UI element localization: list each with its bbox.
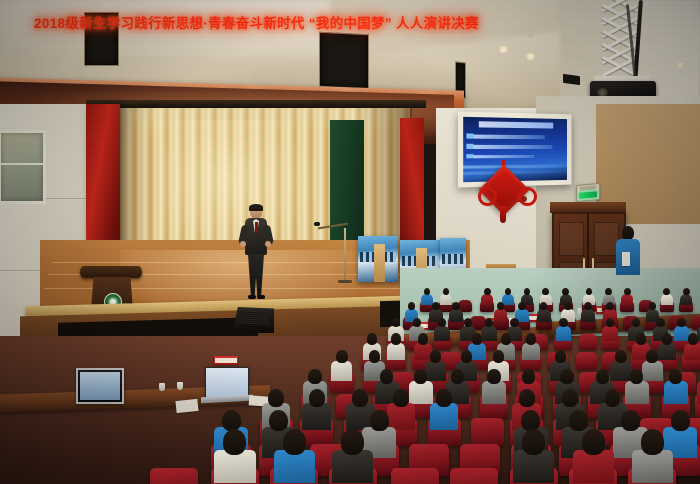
audience-member-head xyxy=(564,302,572,311)
auditorium-seat[interactable] xyxy=(576,352,597,370)
audience-member-head xyxy=(451,369,464,384)
auditorium-seat[interactable] xyxy=(450,468,498,484)
audience-member-body xyxy=(661,294,673,305)
audience-member-head xyxy=(555,350,567,363)
speaker-tie xyxy=(255,222,258,233)
audience-member-head xyxy=(380,369,393,384)
audience-member-head xyxy=(526,333,536,344)
paper-cup xyxy=(177,382,183,390)
ceiling-downlight-icon xyxy=(498,46,509,53)
audience-member-head xyxy=(559,318,568,328)
audience-member-body xyxy=(610,361,631,381)
audience-member-head xyxy=(393,389,409,407)
audience-member-head xyxy=(341,429,364,455)
audience-member-head xyxy=(309,389,325,407)
audience-member-head xyxy=(522,369,535,384)
audience-member-body xyxy=(440,294,452,305)
audience-member-head xyxy=(641,429,664,455)
audience-member-body xyxy=(697,381,700,404)
auditorium-seat[interactable] xyxy=(391,468,439,484)
audience-member-head xyxy=(615,350,627,363)
audience-member-head xyxy=(560,369,573,384)
audience-member-head xyxy=(519,389,535,407)
audience-member-body xyxy=(522,343,540,360)
ceiling-downlight-icon xyxy=(525,53,536,60)
audience-member-head xyxy=(596,369,609,384)
audience-member-head xyxy=(223,429,246,455)
slide-bullet-icon xyxy=(467,144,474,149)
exit-sign-header xyxy=(580,185,596,190)
acoustic-panel-icon xyxy=(319,32,369,90)
auditorium-seat[interactable] xyxy=(471,418,504,446)
name-placard xyxy=(214,356,238,365)
crt-screen xyxy=(80,372,120,400)
audience-member-head xyxy=(222,410,241,432)
audience-member-head xyxy=(521,410,540,432)
microphone-stand xyxy=(344,228,346,282)
attendee-head xyxy=(622,226,634,240)
audience-member-head xyxy=(582,429,605,455)
speaker-shoe xyxy=(248,295,256,299)
audience-member-head xyxy=(605,389,621,407)
audience-member-head xyxy=(510,318,519,328)
audience-member-body xyxy=(602,326,617,341)
audience-member-head xyxy=(662,333,672,344)
audience-member-body xyxy=(274,450,315,482)
audience-member-body xyxy=(502,294,514,305)
speaker-shoe xyxy=(257,295,265,299)
left-window xyxy=(0,130,46,204)
audience-member-body xyxy=(214,450,255,482)
slide-bullet-icon xyxy=(467,134,474,139)
monitor-grill xyxy=(237,310,270,326)
audience-member-head xyxy=(418,333,428,344)
slide-text-line xyxy=(473,135,544,139)
knot-tassel xyxy=(500,206,506,223)
audience-member-body xyxy=(425,361,446,381)
audience-member-head xyxy=(677,318,686,328)
stage-speaker xyxy=(243,205,269,301)
audience-member-body xyxy=(434,326,449,341)
audience-member-head xyxy=(443,288,450,296)
slide-bullet-icon xyxy=(467,154,474,159)
door-panel xyxy=(559,222,584,256)
exit-sign-glow xyxy=(579,191,597,199)
audience-member-head xyxy=(624,288,631,296)
audience-member-head xyxy=(663,288,670,296)
audience-member-body xyxy=(680,294,692,305)
audience-member-body xyxy=(537,309,551,322)
audience-member-head xyxy=(605,288,612,296)
audience-member-head xyxy=(369,350,381,363)
audience-member-head xyxy=(432,302,440,311)
audience-member-head xyxy=(336,350,348,363)
audience-member-head xyxy=(438,318,447,328)
audience-member-body xyxy=(449,309,463,322)
audience-member-head xyxy=(487,369,500,384)
audience-member-head xyxy=(472,333,482,344)
audience-member-head xyxy=(584,302,592,311)
audience-member-body xyxy=(302,403,330,430)
speaker-hand xyxy=(240,241,246,247)
placard-label xyxy=(215,358,237,363)
audience-member-head xyxy=(414,369,427,384)
audience-member-head xyxy=(493,350,505,363)
audience-member-head xyxy=(464,318,473,328)
audience-member-body xyxy=(684,343,700,360)
audience-member-body xyxy=(632,450,673,482)
exit-sign-icon xyxy=(576,183,600,202)
slide-text-line xyxy=(473,154,534,158)
audience-member-head xyxy=(586,288,593,296)
audience-member-head xyxy=(669,369,682,384)
audience-member-head xyxy=(408,302,416,311)
audience-member-head xyxy=(518,302,526,311)
speaker-hand xyxy=(265,241,271,247)
audience-member-body xyxy=(332,450,373,482)
audience-member-body xyxy=(331,361,352,381)
audience-member-body xyxy=(573,450,614,482)
auditorium-seat[interactable] xyxy=(150,468,198,484)
audience-member-body xyxy=(625,381,649,404)
audience-member-head xyxy=(283,429,306,455)
ceiling-downlight-icon xyxy=(527,33,534,38)
audience-member-head xyxy=(542,288,549,296)
audience-member-body xyxy=(556,326,571,341)
audience-member-head xyxy=(370,410,389,432)
ceiling-downlight-icon xyxy=(405,37,412,42)
audience-member-head xyxy=(522,429,545,455)
audience-member-head xyxy=(367,333,377,344)
podium-top xyxy=(80,266,142,278)
auditorium-seat[interactable] xyxy=(579,334,597,350)
audience-member-head xyxy=(461,350,473,363)
banner-text: 2018级新生学习践行新思想·青春奋斗新时代 “我的中国梦” 人人演讲决赛 xyxy=(34,12,454,32)
audience-member-head xyxy=(671,410,690,432)
knot-loop-icon xyxy=(478,187,497,206)
audience-member-head xyxy=(636,333,646,344)
curtain-rail xyxy=(86,100,426,108)
auditorium-photo: 2018级新生学习践行新思想·青春奋斗新时代 “我的中国梦” 人人演讲决赛 xyxy=(0,0,700,484)
microphone-icon xyxy=(314,222,320,226)
audience-member-head xyxy=(621,410,640,432)
slide-title-bar xyxy=(479,122,554,129)
crt-monitor xyxy=(76,368,124,404)
audience-member-head xyxy=(269,410,288,432)
audience-member-body xyxy=(513,450,554,482)
audience-member-head xyxy=(391,333,401,344)
audience-member-head xyxy=(630,369,643,384)
projection-screen-surface xyxy=(463,117,567,182)
audience-member-body xyxy=(481,326,496,341)
audience-member-head xyxy=(430,350,442,363)
microphone-base xyxy=(338,280,352,283)
audience-member-body xyxy=(430,403,458,430)
paper-cup xyxy=(159,383,165,391)
projector-lift xyxy=(588,0,658,96)
audience-member-head xyxy=(562,288,569,296)
audience-member-head xyxy=(436,389,452,407)
audience-member-head xyxy=(452,302,460,311)
speaker-hair xyxy=(249,204,263,211)
audience-member-head xyxy=(606,302,614,311)
audience-member-head xyxy=(392,318,401,328)
score-sheet xyxy=(175,399,198,413)
audience-member-body xyxy=(581,309,595,322)
audience-member-body xyxy=(494,309,508,322)
audience-member-body xyxy=(621,294,633,305)
audience-member-head xyxy=(683,288,690,296)
audience-member-body xyxy=(664,381,688,404)
audience-member-head xyxy=(632,318,641,328)
audience-member-head xyxy=(505,288,512,296)
ceiling-downlight-icon xyxy=(676,62,685,68)
slide-band xyxy=(463,164,567,168)
audience-member-body xyxy=(409,381,433,404)
audience-member-head xyxy=(424,288,431,296)
audience-member-body xyxy=(658,343,676,360)
audience-member-head xyxy=(649,302,657,311)
audience-member-head xyxy=(569,410,588,432)
audience-member-body xyxy=(421,294,433,305)
audience-member-head xyxy=(562,389,578,407)
audience-member-head xyxy=(308,369,321,384)
audience-member-head xyxy=(646,350,658,363)
audience-member-body xyxy=(482,381,506,404)
knot-loop-icon xyxy=(518,187,537,206)
attendee-badge xyxy=(622,252,630,266)
audience-member-head xyxy=(484,288,491,296)
audience-member-head xyxy=(352,389,368,407)
audience-member-body xyxy=(481,294,493,305)
speaker-trousers xyxy=(248,254,264,296)
board-wood-divider xyxy=(374,244,385,282)
slide-band xyxy=(463,170,567,175)
audience-member-body xyxy=(387,403,415,430)
audience-member-head xyxy=(501,333,511,344)
audience-member-body xyxy=(387,343,405,360)
audience-member-head xyxy=(268,389,284,407)
audience-member-head xyxy=(656,318,665,328)
audience-member-head xyxy=(688,333,698,344)
audience-member-body xyxy=(642,361,663,381)
slide-text-line xyxy=(473,145,552,149)
audience-member-head xyxy=(524,288,531,296)
